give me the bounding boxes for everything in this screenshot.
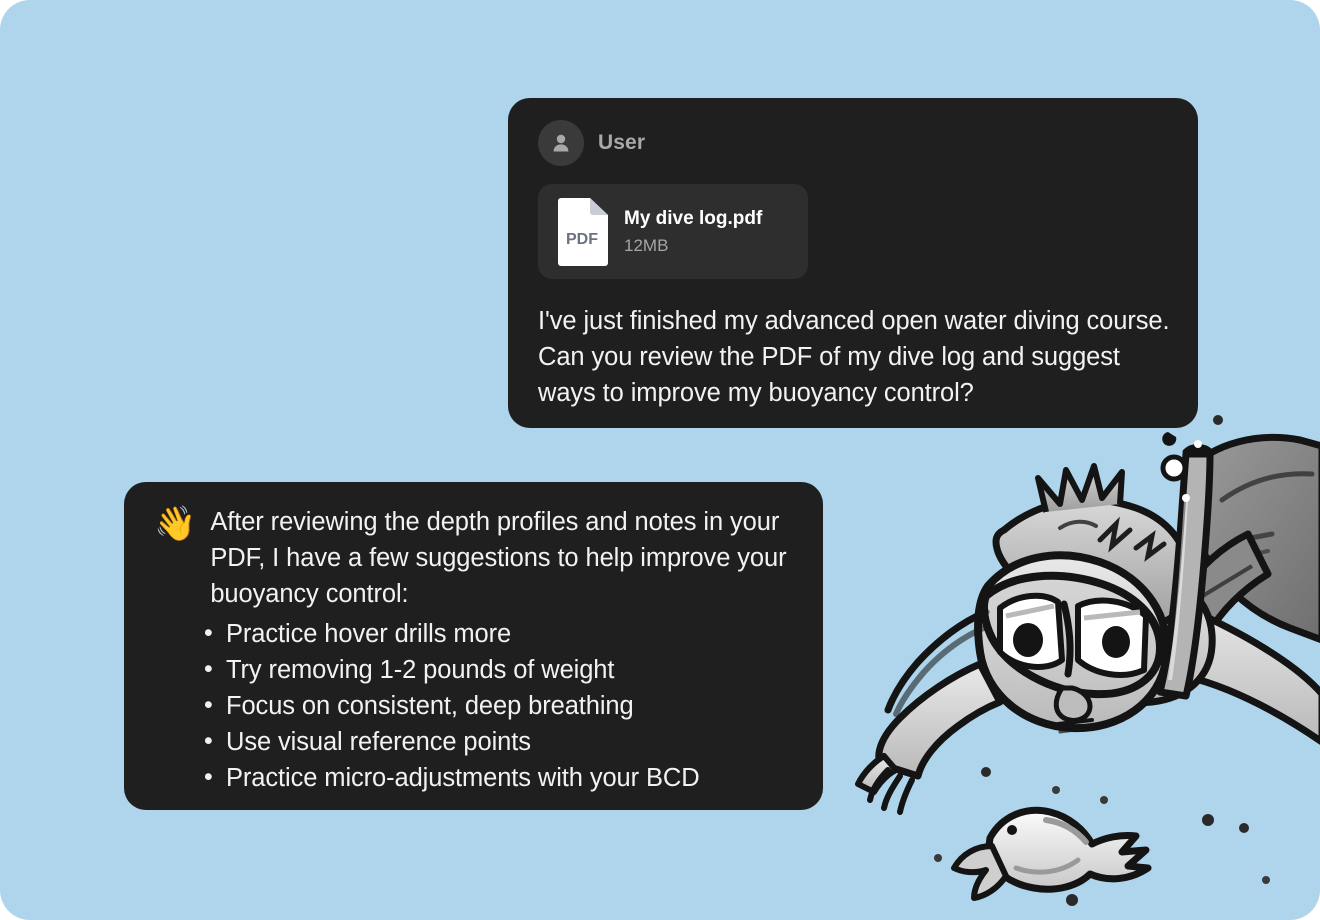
diver-group	[858, 437, 1320, 812]
suggestion-item: Focus on consistent, deep breathing	[204, 688, 795, 724]
person-icon	[538, 120, 584, 166]
waving-hand-emoji: 👋	[154, 506, 196, 542]
user-message-bubble: User PDF My dive log.pdf 12MB I've just …	[508, 98, 1198, 428]
user-message-text: I've just finished my advanced open wate…	[538, 303, 1172, 411]
suggestion-item: Try removing 1-2 pounds of weight	[204, 652, 795, 688]
user-header: User	[538, 120, 1172, 166]
file-meta: My dive log.pdf 12MB	[624, 208, 762, 256]
file-attachment-card[interactable]: PDF My dive log.pdf 12MB	[538, 184, 808, 279]
assistant-message-bubble: 👋 After reviewing the depth profiles and…	[124, 482, 823, 810]
file-name: My dive log.pdf	[624, 208, 762, 230]
assistant-intro-row: 👋 After reviewing the depth profiles and…	[154, 504, 795, 612]
file-size: 12MB	[624, 236, 762, 256]
screenshot-canvas: User PDF My dive log.pdf 12MB I've just …	[0, 0, 1320, 920]
suggestion-item: Practice hover drills more	[204, 616, 795, 652]
user-role-label: User	[598, 131, 645, 155]
fish-illustration	[954, 810, 1148, 898]
suggestion-list: Practice hover drills moreTry removing 1…	[154, 616, 795, 796]
assistant-intro-text: After reviewing the depth profiles and n…	[210, 504, 795, 612]
suggestion-item: Use visual reference points	[204, 724, 795, 760]
svg-text:PDF: PDF	[566, 231, 598, 248]
pdf-file-icon: PDF	[554, 198, 608, 266]
suggestion-item: Practice micro-adjustments with your BCD	[204, 760, 795, 796]
air-bubbles	[934, 384, 1270, 906]
